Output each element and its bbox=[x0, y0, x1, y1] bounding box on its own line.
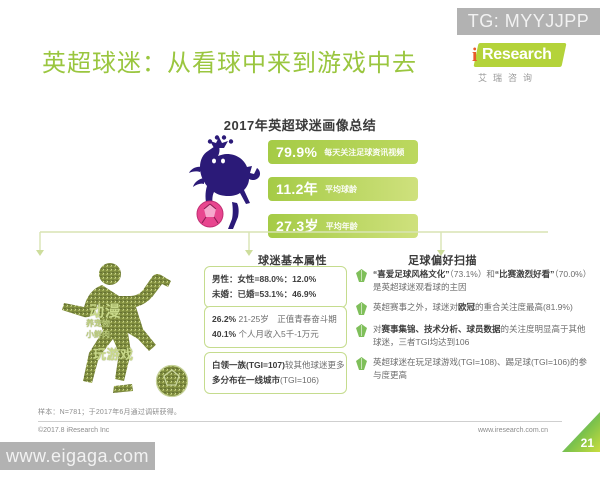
player-silhouette bbox=[62, 263, 171, 393]
attribute-bold: 白领一族(TGI=107) bbox=[212, 360, 285, 370]
attribute-box: 白领一族(TGI=107)较其他球迷更多 多分布在一线城市(TGI=106) bbox=[204, 352, 347, 394]
stat-value: 79.9% bbox=[276, 144, 317, 160]
stat-pill: 79.9% 每天关注足球资讯视频 bbox=[268, 140, 418, 164]
list-item: 对赛事集锦、技术分析、球员数据的关注度明显高于其他球迷，三者TGI均达到106 bbox=[356, 323, 588, 348]
list-item-text: “喜爱足球风格文化”（73.1%）和“比赛激烈好看”（70.0%）是英超球迷观看… bbox=[373, 268, 588, 293]
preference-list: “喜爱足球风格文化”（73.1%）和“比赛激烈好看”（70.0%）是英超球迷观看… bbox=[356, 268, 588, 389]
list-item: “喜爱足球风格文化”（73.1%）和“比赛激烈好看”（70.0%）是英超球迷观看… bbox=[356, 268, 588, 293]
attribute-lite: 个人月收入5千-1万元 bbox=[236, 329, 319, 339]
watermark-bottom: www.eigaga.com bbox=[0, 442, 155, 470]
stat-label: 每天关注足球资讯视频 bbox=[324, 147, 404, 158]
attribute-bold: 26.2% bbox=[212, 314, 236, 324]
pref-text-1: 英超球迷在玩足球游戏(TGI=108)、踢足球(TGI=106)的参与度更高 bbox=[373, 357, 587, 380]
pref-bold-2: 赛事集锦、技术分析、球员数据 bbox=[382, 324, 501, 334]
logo-wordmark: Research bbox=[482, 46, 552, 64]
stat-pill: 11.2年 平均球龄 bbox=[268, 177, 418, 201]
attribute-box: 男性：女性=88.0%：12.0% 未婚：已婚=53.1%：46.9% bbox=[204, 266, 347, 308]
pref-bold-2: 欧冠 bbox=[458, 302, 475, 312]
list-item-text: 对赛事集锦、技术分析、球员数据的关注度明显高于其他球迷，三者TGI均达到106 bbox=[373, 323, 588, 348]
footer-divider bbox=[38, 421, 562, 422]
logo-chinese-name: 艾瑞咨询 bbox=[478, 71, 538, 84]
column-heading-preferences: 足球偏好扫描 bbox=[408, 252, 477, 268]
watermark-top: TG: MYYJJPP bbox=[457, 8, 600, 35]
stat-label: 平均球龄 bbox=[325, 184, 357, 195]
attribute-line: 未婚：已婚=53.1%：46.9% bbox=[212, 287, 339, 302]
crest-ball-icon bbox=[197, 201, 223, 227]
logo-mark: i Research bbox=[470, 43, 566, 69]
iresearch-logo: i Research 艾瑞咨询 bbox=[470, 43, 566, 87]
attribute-bold: 男性：女性=88.0%：12.0% bbox=[212, 274, 316, 284]
list-item-text: 英超赛事之外，球迷对欧冠的重合关注度最高(81.9%) bbox=[373, 301, 573, 314]
pref-text-2: 的重合关注度最高(81.9%) bbox=[475, 302, 573, 312]
page-number: 21 bbox=[581, 436, 594, 450]
page-title: 英超球迷：从看球中来到游戏中去 bbox=[42, 43, 417, 78]
stat-value: 11.2年 bbox=[276, 179, 318, 199]
list-item: 英超球迷在玩足球游戏(TGI=108)、踢足球(TGI=106)的参与度更高 bbox=[356, 356, 588, 381]
arrow-down-icon bbox=[36, 250, 44, 256]
attribute-lite: 21-25岁 正值青春奋斗期 bbox=[236, 314, 337, 324]
premier-league-lion-icon bbox=[186, 134, 262, 230]
list-item-text: 英超球迷在玩足球游戏(TGI=108)、踢足球(TGI=106)的参与度更高 bbox=[373, 356, 588, 381]
source-note: 样本：N=781；于2017年6月通过调研获得。 bbox=[38, 407, 181, 417]
website-url: www.iresearch.com.cn bbox=[478, 427, 548, 434]
pref-bold-2: “比赛激烈好看” bbox=[495, 269, 555, 279]
attribute-lite: (TGI=106) bbox=[280, 375, 319, 385]
copyright-text: ©2017.8 iResearch Inc bbox=[38, 427, 109, 434]
slide-canvas: 英超球迷：从看球中来到游戏中去 i Research 艾瑞咨询 2017年英超球… bbox=[0, 0, 600, 480]
list-item: 英超赛事之外，球迷对欧冠的重合关注度最高(81.9%) bbox=[356, 301, 588, 315]
green-leaf-bullet-icon bbox=[356, 302, 367, 315]
player-ball-icon bbox=[156, 365, 188, 397]
attribute-box: 26.2% 21-25岁 正值青春奋斗期 40.1% 个人月收入5千-1万元 bbox=[204, 306, 347, 348]
pref-text-1: 对 bbox=[373, 324, 382, 334]
attribute-line: 白领一族(TGI=107)较其他球迷更多 bbox=[212, 358, 339, 373]
attribute-line: 40.1% 个人月收入5千-1万元 bbox=[212, 327, 339, 342]
attribute-line: 26.2% 21-25岁 正值青春奋斗期 bbox=[212, 312, 339, 327]
attribute-line: 男性：女性=88.0%：12.0% bbox=[212, 272, 339, 287]
summary-heading: 2017年英超球迷画像总结 bbox=[0, 115, 600, 134]
wordcloud-football-player-icon: 动漫 养宠物 小鲜肉 玩游戏 bbox=[62, 258, 207, 408]
green-leaf-bullet-icon bbox=[356, 269, 367, 282]
attribute-lite: 较其他球迷更多 bbox=[285, 360, 345, 370]
arrow-down-icon bbox=[245, 250, 253, 256]
attribute-bold: 多分布在一线城市 bbox=[212, 375, 280, 385]
logo-i-letter: i bbox=[472, 45, 477, 67]
green-leaf-bullet-icon bbox=[356, 357, 367, 370]
attribute-line: 多分布在一线城市(TGI=106) bbox=[212, 373, 339, 388]
green-leaf-bullet-icon bbox=[356, 324, 367, 337]
pref-bold-1: “喜爱足球风格文化” bbox=[373, 269, 450, 279]
pref-text-1: （73.1%）和 bbox=[450, 269, 495, 279]
attribute-bold: 40.1% bbox=[212, 329, 236, 339]
attribute-bold: 未婚：已婚=53.1%：46.9% bbox=[212, 289, 316, 299]
pref-text-1: 英超赛事之外，球迷对 bbox=[373, 302, 458, 312]
